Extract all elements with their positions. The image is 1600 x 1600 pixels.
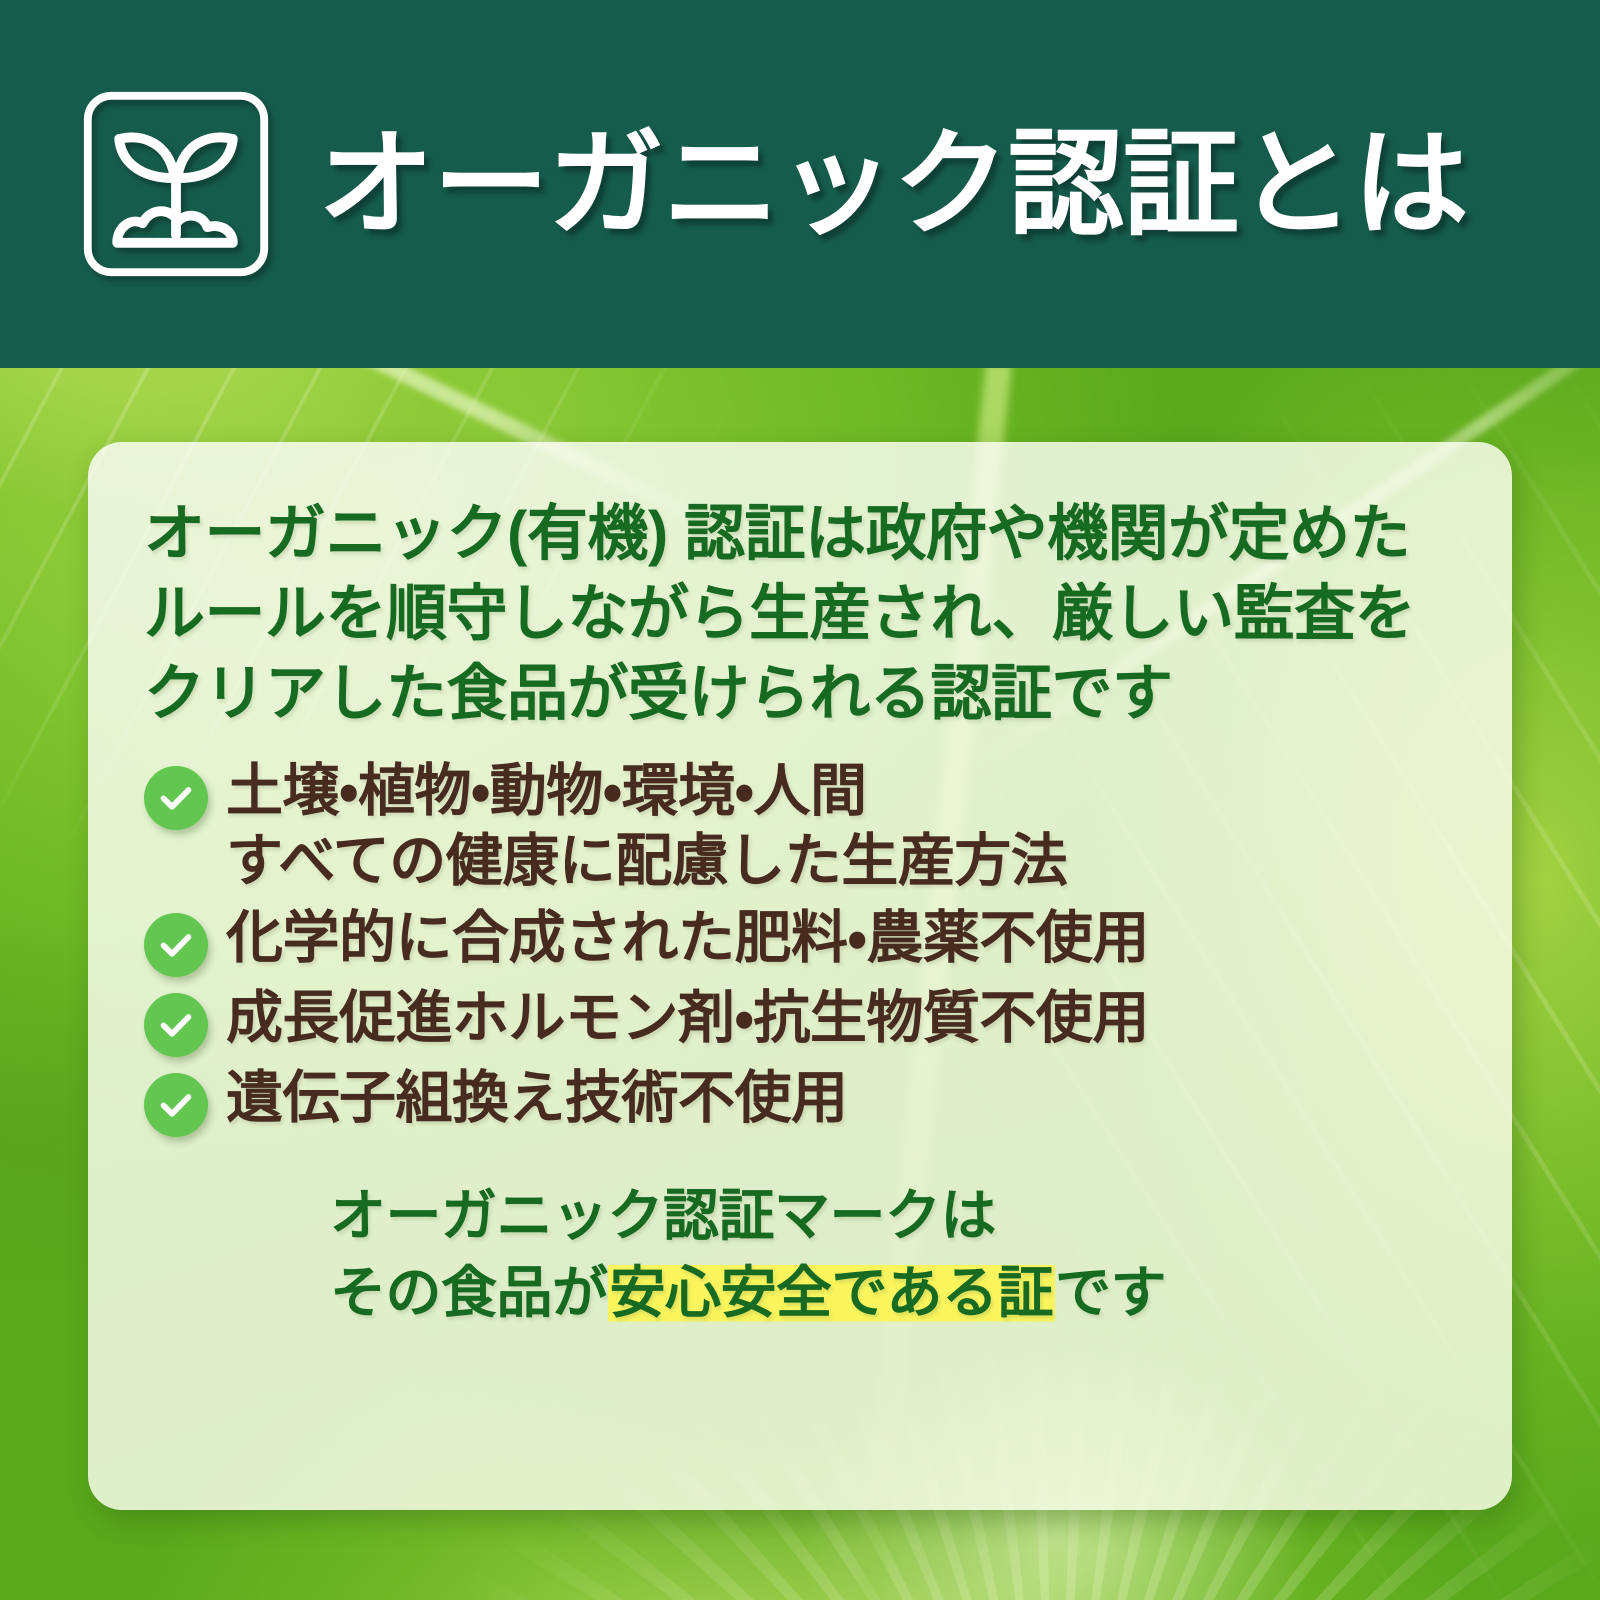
check-circle-icon [144, 913, 208, 977]
footer-line-2-pre: その食品が [330, 1261, 608, 1324]
list-item-label: 化学的に合成された肥料・農薬不使用 [226, 903, 1149, 974]
footer-line-1: オーガニック認証マークは [330, 1184, 996, 1247]
check-circle-icon [144, 993, 208, 1057]
bullet-3-line-1: 成長促進ホルモン剤・抗生物質不使用 [226, 986, 1149, 1050]
list-item-label: 土壌・植物・動物・環境・人間 すべての健康に配慮した生産方法 [226, 756, 1067, 897]
header-bar: オーガニック認証とは [0, 0, 1600, 368]
bullet-2-line-1: 化学的に合成された肥料・農薬不使用 [226, 906, 1149, 970]
sprout-icon [78, 86, 274, 282]
check-circle-icon [144, 766, 208, 830]
intro-line-2: ルールを順守しながら生産され、厳しい監査を [144, 579, 1415, 647]
bullet-4-line-1: 遺伝子組換え技術不使用 [226, 1066, 848, 1130]
page-title: オーガニック認証とは [318, 125, 1468, 243]
intro-line-1: オーガニック(有機) 認証は政府や機関が定めた [144, 499, 1410, 567]
content-card: オーガニック(有機) 認証は政府や機関が定めた ルールを順守しながら生産され、厳… [88, 442, 1512, 1510]
card-inner: オーガニック(有機) 認証は政府や機関が定めた ルールを順守しながら生産され、厳… [88, 442, 1512, 1510]
list-item: 化学的に合成された肥料・農薬不使用 [144, 903, 1456, 977]
list-item: 土壌・植物・動物・環境・人間 すべての健康に配慮した生産方法 [144, 756, 1456, 897]
list-item: 遺伝子組換え技術不使用 [144, 1063, 1456, 1137]
footer-line-2-highlight: 安心安全である証 [608, 1261, 1055, 1324]
footer-note: オーガニック認証マークは その食品が安心安全である証です [144, 1177, 1456, 1332]
poster-root: オーガニック認証とは オーガニック(有機) 認証は政府や機関が定めた ルールを順… [0, 0, 1600, 1600]
list-item-label: 遺伝子組換え技術不使用 [226, 1063, 848, 1134]
bullet-1-line-2: すべての健康に配慮した生産方法 [226, 829, 1067, 893]
benefits-list: 土壌・植物・動物・環境・人間 すべての健康に配慮した生産方法 化学的に合成された… [144, 756, 1456, 1137]
list-item-label: 成長促進ホルモン剤・抗生物質不使用 [226, 983, 1149, 1054]
intro-line-3: クリアした食品が受けられる認証です [144, 659, 1173, 727]
list-item: 成長促進ホルモン剤・抗生物質不使用 [144, 983, 1456, 1057]
check-circle-icon [144, 1073, 208, 1137]
footer-line-2-post: です [1055, 1261, 1166, 1324]
intro-paragraph: オーガニック(有機) 認証は政府や機関が定めた ルールを順守しながら生産され、厳… [144, 494, 1456, 734]
bullet-1-line-1: 土壌・植物・動物・環境・人間 [226, 759, 867, 823]
